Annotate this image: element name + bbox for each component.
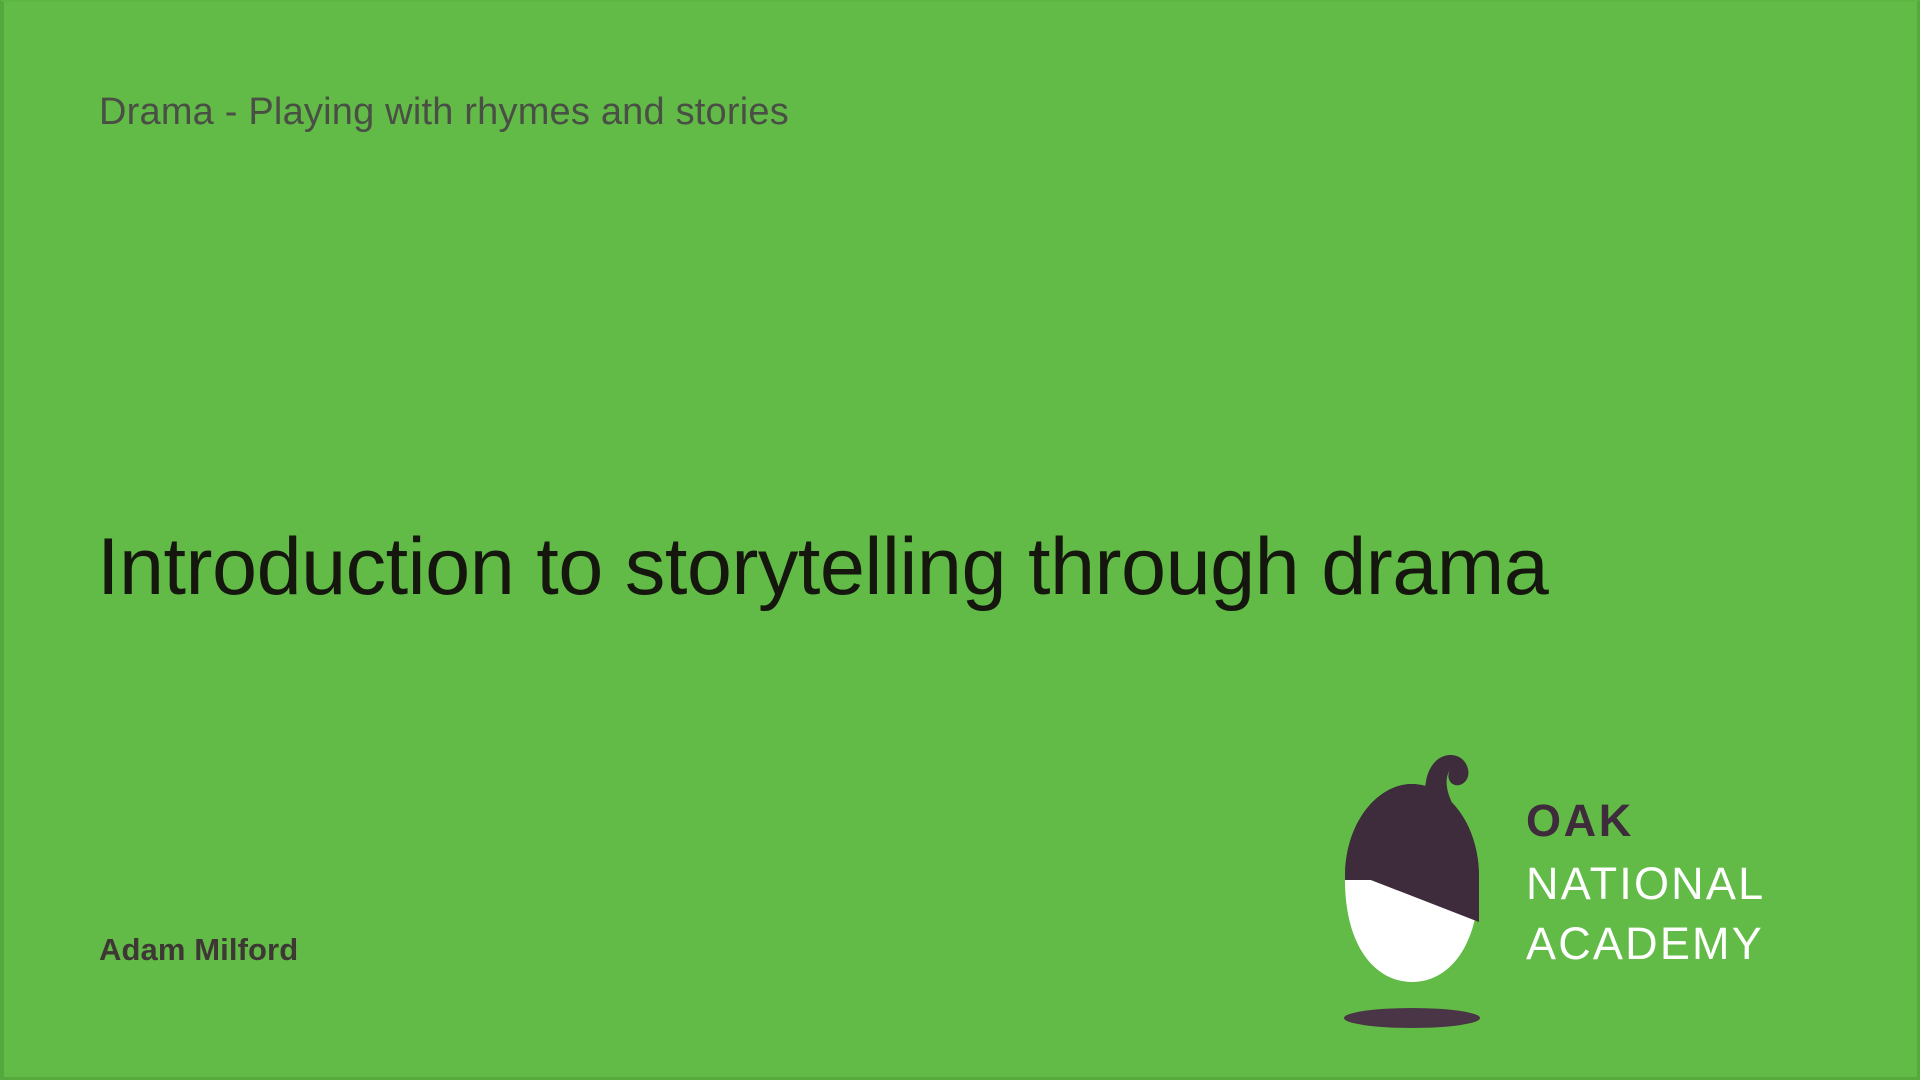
page-title: Introduction to storytelling through dra… — [97, 522, 1857, 613]
acorn-logo-icon — [1326, 750, 1496, 1040]
logo-wordmark-line-academy: ACADEMY — [1526, 921, 1886, 966]
presenter-name: Adam Milford — [99, 932, 298, 968]
logo-wordmark-line-national: NATIONAL — [1526, 861, 1886, 906]
title-slide: Drama - Playing with rhymes and stories … — [0, 0, 1920, 1080]
unit-label: Drama - Playing with rhymes and stories — [99, 90, 789, 136]
oak-national-academy-logo: OAK NATIONAL ACADEMY — [1326, 750, 1896, 1040]
logo-wordmark: OAK NATIONAL ACADEMY — [1526, 798, 1886, 966]
logo-wordmark-line-oak: OAK — [1526, 798, 1886, 843]
